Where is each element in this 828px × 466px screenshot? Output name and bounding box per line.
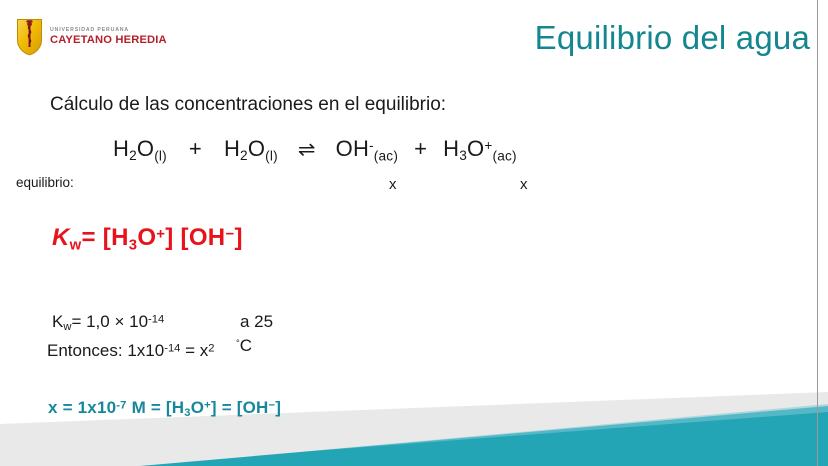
celsius-symbol: C — [240, 336, 252, 355]
h3-subscript: 3 — [459, 148, 467, 163]
plus-sign-1: + — [189, 136, 202, 161]
x-value-hydroxide: x — [389, 176, 397, 193]
o-symbol: O — [467, 136, 484, 161]
kw-k-symbol: K — [52, 312, 63, 331]
reactant-water-2: H2O(l) — [224, 136, 278, 161]
result-mid-1: M = [H — [127, 398, 185, 417]
section-heading: Cálculo de las concentraciones en el equ… — [50, 94, 446, 116]
kw-numeric-value: Kw= 1,0 × 10-14 — [52, 312, 164, 333]
h2-subscript: 2 — [240, 148, 248, 163]
entonces-prefix: Entonces: 1x10 — [47, 341, 164, 360]
result-exponent: -7 — [116, 399, 126, 411]
page-title: Equilibrio del agua — [535, 19, 810, 57]
kw-definition-formula: Kw= [H3O+] [OH−] — [52, 224, 243, 253]
h-symbol: H — [224, 136, 240, 161]
entonces-equals: = x — [180, 341, 208, 360]
reactant-water-1: H2O(l) — [113, 136, 167, 161]
logo-line-2: CAYETANO HEREDIA — [50, 34, 167, 47]
x-squared-exponent: 2 — [208, 342, 214, 354]
chemical-reaction-equation: H2O(l)+H2O(l)⇌OH-(ac)+H3O+(ac) — [113, 136, 517, 163]
kw-equals-bracket: = [H — [82, 224, 129, 251]
logo-line-1: UNIVERSIDAD PERUANA — [50, 27, 167, 34]
o-symbol: O — [137, 224, 156, 251]
equilibrium-row-label: equilibrio: — [16, 175, 74, 190]
wave-teal-highlight — [300, 404, 828, 452]
result-mid-2: ] = [OH — [211, 398, 269, 417]
logo-wordmark: UNIVERSIDAD PERUANA CAYETANO HEREDIA — [50, 27, 167, 47]
kw-value-text: = 1,0 × 10 — [71, 312, 148, 331]
state-liquid: (l) — [265, 148, 278, 163]
state-liquid: (l) — [154, 148, 167, 163]
equilibrium-arrow-icon: ⇌ — [298, 138, 316, 161]
kw-exponent: -14 — [148, 313, 164, 325]
state-aqueous: (ac) — [492, 148, 516, 163]
temperature-line-1: a 25 — [240, 312, 273, 332]
plus-sign-2: + — [414, 136, 427, 161]
x-value-hydronium: x — [520, 176, 528, 193]
kw-w-subscript: w — [70, 237, 82, 253]
o-symbol: O — [248, 136, 265, 161]
result-equation: x = 1x10-7 M = [H3O+] = [OH−] — [48, 398, 281, 419]
o-symbol: O — [191, 398, 204, 417]
slide-canvas: UNIVERSIDAD PERUANA CAYETANO HEREDIA Equ… — [0, 0, 828, 466]
o-symbol: O — [137, 136, 154, 161]
h2-subscript: 2 — [129, 148, 137, 163]
entonces-exponent: -14 — [164, 342, 180, 354]
h-symbol: H — [443, 136, 459, 161]
temperature-line-2: °C — [236, 336, 252, 356]
bracket-end: ] — [234, 224, 242, 251]
h-symbol: H — [113, 136, 129, 161]
product-hydronium: H3O+(ac) — [443, 136, 517, 161]
shield-caduceus-icon — [16, 18, 43, 56]
slide-right-border — [817, 0, 818, 466]
positive-charge: + — [204, 399, 211, 411]
kw-k-symbol: K — [52, 224, 70, 251]
positive-charge: + — [156, 226, 165, 242]
result-prefix: x = 1x10 — [48, 398, 116, 417]
university-logo: UNIVERSIDAD PERUANA CAYETANO HEREDIA — [16, 17, 166, 57]
result-end: ] — [275, 398, 281, 417]
entonces-equation: Entonces: 1x10-14 = x2 — [47, 341, 215, 361]
state-aqueous: (ac) — [374, 148, 398, 163]
bracket-middle: ] [OH — [165, 224, 225, 251]
oh-symbol: OH — [336, 136, 369, 161]
product-hydroxide: OH-(ac) — [336, 136, 398, 161]
